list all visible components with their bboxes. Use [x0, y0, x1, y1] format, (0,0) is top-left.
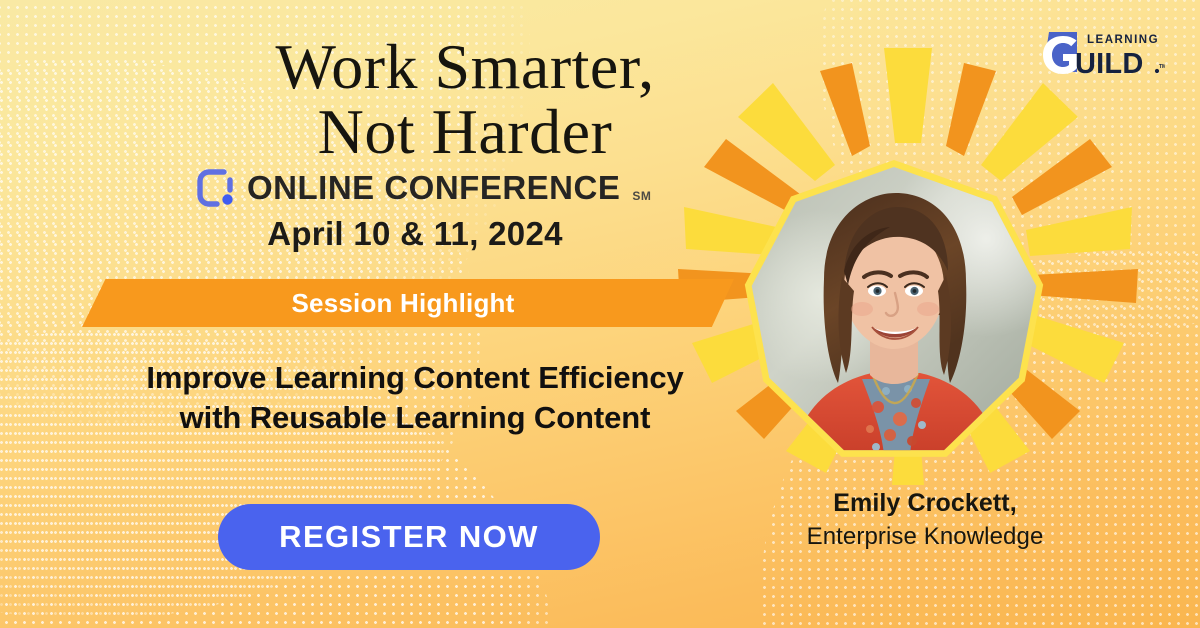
- speaker-portrait-illustration: [750, 167, 1038, 455]
- guild-logo-trademark: TM: [1159, 64, 1165, 70]
- headline-line-2: Not Harder: [205, 99, 725, 164]
- online-conference-bracket-icon: [196, 168, 236, 208]
- speaker-credit: Emily Crockett, Enterprise Knowledge: [760, 488, 1090, 552]
- service-mark: SM: [632, 189, 651, 203]
- speaker-avatar: [750, 167, 1038, 455]
- guild-logo-main-word: UILD: [1075, 48, 1143, 80]
- online-conference-name: ONLINE CONFERENCE: [247, 169, 620, 207]
- register-now-button[interactable]: REGISTER NOW: [218, 504, 600, 570]
- speaker-photo-frame: [743, 160, 1045, 462]
- session-highlight-label: Session Highlight: [82, 279, 734, 327]
- guild-logo-top-word: LEARNING: [1087, 34, 1159, 46]
- speaker-organization: Enterprise Knowledge: [760, 521, 1090, 552]
- session-title-line-1: Improve Learning Content Efficiency: [90, 358, 740, 398]
- conference-dates: April 10 & 11, 2024: [205, 215, 625, 253]
- session-highlight-promo-banner: Work Smarter, Not Harder ONLINE CONFEREN…: [0, 0, 1200, 628]
- headline-line-1: Work Smarter,: [205, 34, 725, 99]
- session-title-line-2: with Reusable Learning Content: [90, 398, 740, 438]
- page-title: Work Smarter, Not Harder: [205, 34, 725, 165]
- speaker-name: Emily Crockett,: [760, 488, 1090, 519]
- online-conference-lockup: ONLINE CONFERENCE SM: [196, 168, 651, 208]
- session-title: Improve Learning Content Efficiency with…: [90, 358, 740, 439]
- learning-guild-logo: LEARNING UILD TM: [1035, 28, 1165, 80]
